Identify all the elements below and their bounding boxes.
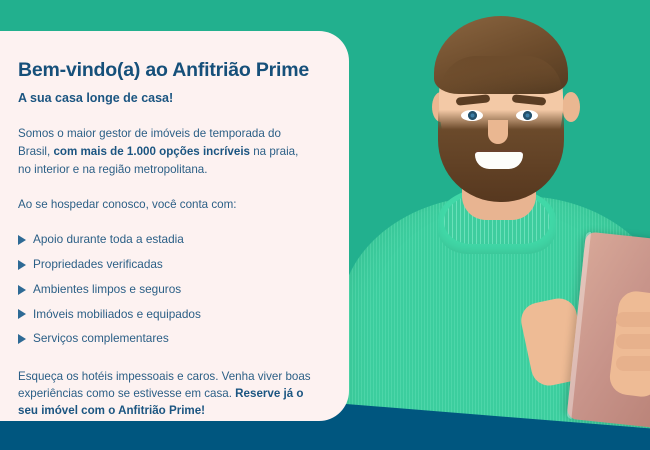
- card-subtitle: A sua casa longe de casa!: [18, 91, 315, 105]
- ear-right: [562, 92, 580, 122]
- triangle-right-icon: [18, 309, 26, 319]
- card-title: Bem-vindo(a) ao Anfitrião Prime: [18, 59, 315, 82]
- intro-highlight: com mais de 1.000 opções incríveis: [53, 145, 250, 158]
- list-item: Propriedades verificadas: [18, 252, 315, 277]
- benefits-lead-in: Ao se hospedar conosco, você conta com:: [18, 196, 315, 213]
- welcome-card: Bem-vindo(a) ao Anfitrião Prime A sua ca…: [0, 31, 349, 421]
- list-item: Apoio durante toda a estadia: [18, 228, 315, 253]
- list-item-label: Serviços complementares: [33, 333, 169, 345]
- finger: [616, 312, 650, 327]
- list-item-label: Apoio durante toda a estadia: [33, 234, 184, 246]
- list-item-label: Propriedades verificadas: [33, 259, 163, 271]
- list-item-label: Ambientes limpos e seguros: [33, 284, 181, 296]
- intro-paragraph: Somos o maior gestor de imóveis de tempo…: [18, 125, 308, 178]
- benefits-list: Apoio durante toda a estadia Propriedade…: [18, 228, 315, 352]
- triangle-right-icon: [18, 334, 26, 344]
- outro-paragraph: Esqueça os hotéis impessoais e caros. Ve…: [18, 368, 315, 420]
- list-item: Ambientes limpos e seguros: [18, 277, 315, 302]
- list-item: Imóveis mobiliados e equipados: [18, 302, 315, 327]
- triangle-right-icon: [18, 285, 26, 295]
- list-item: Serviços complementares: [18, 327, 315, 352]
- list-item-label: Imóveis mobiliados e equipados: [33, 309, 201, 321]
- person-illustration: [330, 0, 650, 450]
- eye-left: [461, 110, 483, 121]
- triangle-right-icon: [18, 260, 26, 270]
- nose: [488, 120, 508, 144]
- triangle-right-icon: [18, 235, 26, 245]
- hair: [434, 16, 568, 94]
- mouth: [475, 152, 523, 169]
- finger: [616, 356, 650, 371]
- eye-right: [516, 110, 538, 121]
- finger: [616, 334, 650, 349]
